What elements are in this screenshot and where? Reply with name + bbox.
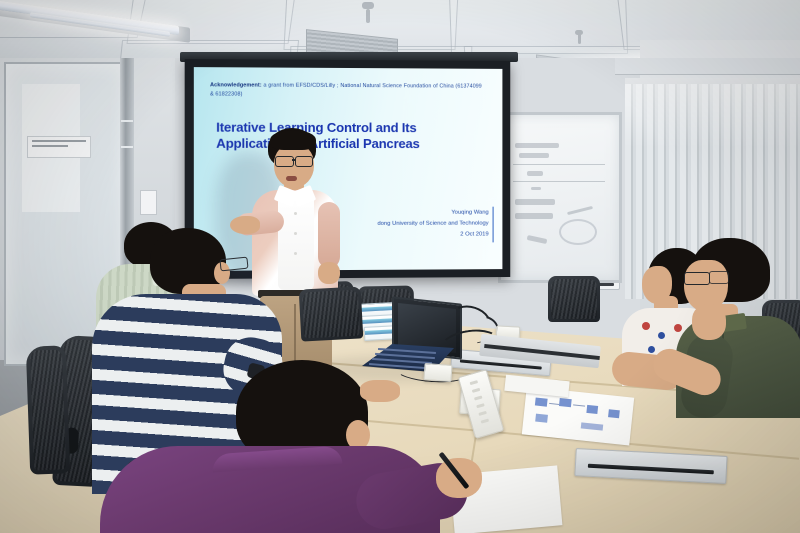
slide-acknowledgement: Acknowledgement: a grant from EFSD/CDS/L… — [210, 81, 482, 100]
seminar-room-photo: Acknowledgement: a grant from EFSD/CDS/L… — [0, 0, 800, 533]
presenter-glasses — [275, 156, 294, 167]
office-chair[interactable] — [299, 286, 364, 341]
presenter-glasses — [295, 156, 313, 167]
presenter-hand — [318, 262, 340, 284]
sprinkler — [366, 9, 370, 23]
attendee-purple — [160, 360, 460, 533]
office-chair[interactable] — [548, 276, 600, 322]
blind-rail — [615, 58, 800, 75]
office-chair[interactable] — [26, 345, 70, 474]
presenter-hair-front — [270, 130, 316, 150]
presenter-arm — [318, 202, 340, 268]
attendee-olive-glasses — [684, 272, 710, 285]
attendee-olive-hand — [692, 304, 726, 340]
attendee-striped-glasses — [219, 257, 248, 272]
attendee-olive-glasses — [709, 271, 729, 284]
wall-sign — [140, 190, 157, 215]
author-accent-bar — [492, 207, 493, 243]
whiteboard[interactable] — [498, 112, 622, 283]
sprinkler — [578, 34, 581, 44]
door-sign — [27, 136, 91, 158]
sprinkler — [362, 2, 374, 9]
attendee-olive — [678, 238, 800, 418]
acknowledgement-label: Acknowledgement: — [210, 82, 262, 88]
blind-glow — [625, 78, 800, 148]
attendee-purple-hand — [360, 380, 400, 402]
